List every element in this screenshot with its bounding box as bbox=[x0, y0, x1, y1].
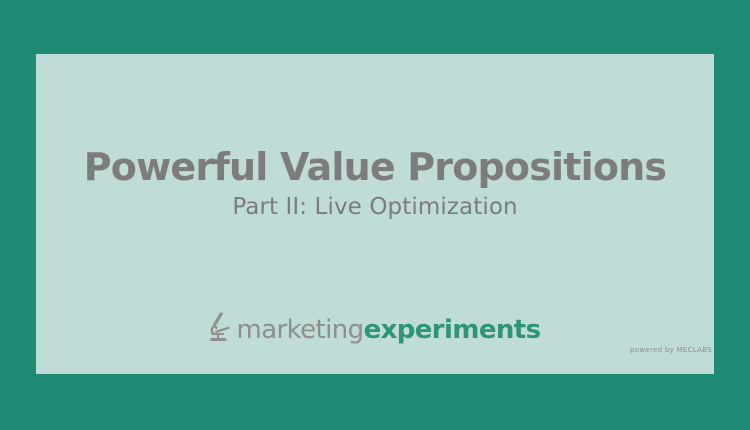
logo-word-marketing: marketing bbox=[236, 317, 363, 343]
microscope-icon bbox=[209, 312, 235, 342]
slide-root: Powerful Value Propositions Part II: Liv… bbox=[0, 0, 750, 430]
brand-logo: marketing experiments powered by MECLABS bbox=[36, 312, 714, 354]
logo-tagline: powered by MECLABS bbox=[630, 346, 712, 354]
logo-word-experiments: experiments bbox=[364, 317, 541, 343]
page-title: Powerful Value Propositions bbox=[36, 148, 714, 188]
logo-row: marketing experiments bbox=[209, 312, 540, 343]
title-block: Powerful Value Propositions Part II: Liv… bbox=[36, 148, 714, 221]
slide-content-panel: Powerful Value Propositions Part II: Liv… bbox=[36, 54, 714, 374]
page-subtitle: Part II: Live Optimization bbox=[36, 194, 714, 222]
